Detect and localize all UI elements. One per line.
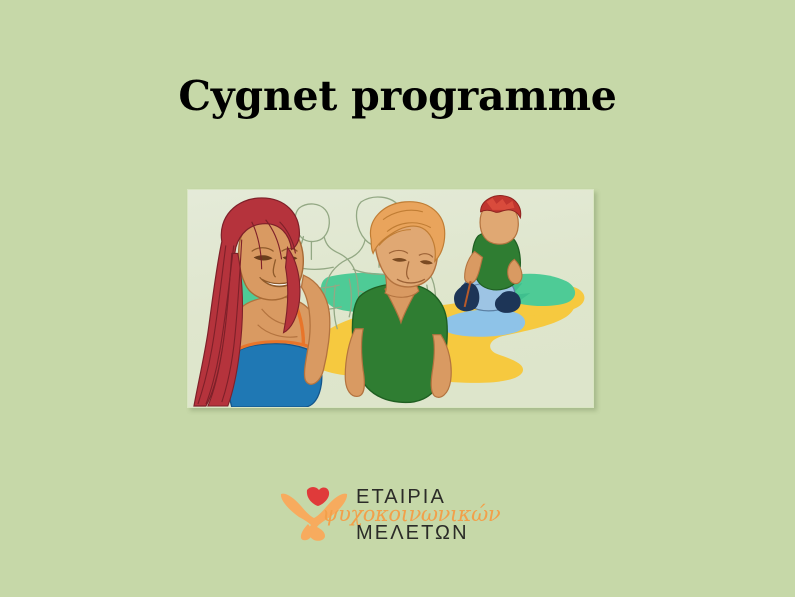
young-people-group-illustration-svg [188, 190, 593, 407]
presentation-slide: Cygnet programme [0, 0, 795, 597]
organisation-logo: ΕΤΑΙΡΙΑ ψυχοκοινωνικών ΜΕΛΕΤΩΝ [278, 482, 508, 548]
page-title: Cygnet programme [0, 74, 795, 119]
organisation-name: ΕΤΑΙΡΙΑ ψυχοκοινωνικών ΜΕΛΕΤΩΝ [356, 482, 508, 548]
illustration-image [187, 189, 594, 408]
organisation-line-bottom: ΜΕΛΕΤΩΝ [356, 522, 508, 545]
